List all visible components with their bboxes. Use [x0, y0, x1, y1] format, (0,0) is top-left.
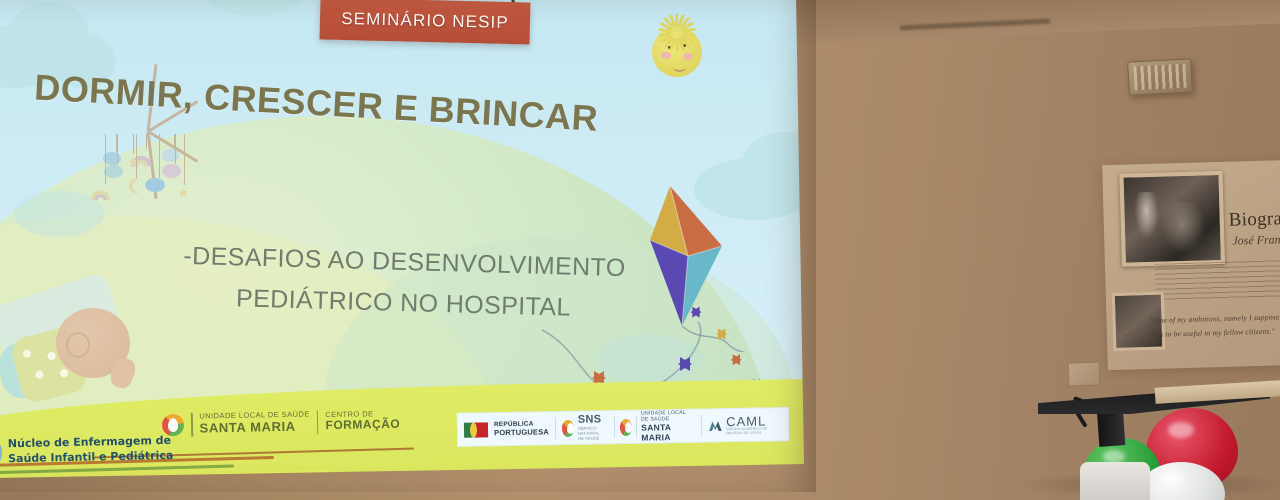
caml-mark-icon [708, 418, 723, 433]
room-scene: Biografia José Francisco David "One of m… [0, 0, 1280, 500]
biography-photo-top [1119, 171, 1225, 267]
biography-body-text [1155, 259, 1280, 302]
mobile-cloud-icon [162, 164, 181, 178]
logo-divider [636, 416, 637, 438]
uls-santa-maria-slide-logo: UNIDADE LOCAL DE SAÚDE SANTA MARIA CENTR… [162, 409, 401, 438]
mobile-star-icon [128, 154, 139, 172]
mobile-string [184, 134, 185, 185]
baby-ear [66, 332, 90, 358]
mobile-string [159, 134, 160, 178]
uls-flame-icon [620, 418, 632, 435]
caml-logo: CAML CENTRO ACADÉMICO DE MEDICINA DE LIS… [701, 408, 788, 442]
mobile-rainbow-icon [89, 184, 112, 206]
uls-santa-maria-strip-logo: UNIDADE LOCAL DE SAÚDE SANTA MARIA [614, 410, 701, 444]
nucleo-enfermagem-logo: Núcleo de Enfermagem de Saúde Infantil e… [0, 430, 174, 472]
sun-icon [639, 14, 715, 90]
sns-label: SNS [578, 414, 608, 426]
centro-formacao-line2: FORMAÇÃO [325, 418, 400, 433]
mobile-string [146, 134, 147, 149]
mobile-string [133, 134, 134, 154]
mobile-string [136, 134, 137, 178]
seminar-banner-label: SEMINÁRIO NESIP [341, 9, 509, 33]
sns-sub2: DE SAÚDE [578, 435, 608, 441]
portugal-flag-icon [464, 422, 490, 437]
sns-flame-icon [562, 419, 575, 436]
mobile-star-icon [178, 185, 189, 203]
slide-subtitle-line1: -DESAFIOS AO DESENVOLVIMENTO [183, 242, 626, 282]
baby-mobile-icon [82, 122, 218, 242]
uls-logo-line2: SANTA MARIA [199, 419, 310, 436]
institutional-logo-strip: REPÚBLICA PORTUGUESA SNS SERVIÇO NACIONA… [457, 407, 790, 447]
logo-divider [317, 410, 319, 434]
projection-screen: SEMINÁRIO NESIP DORMIR, CRESCER E BRINCA… [0, 0, 810, 478]
mobile-cloud-icon [145, 178, 165, 192]
caml-sub: CENTRO ACADÉMICO DE MEDICINA DE LISBOA [726, 427, 782, 436]
mobile-cloud-icon [104, 165, 123, 178]
mobile-string [117, 134, 118, 165]
sns-sub1: SERVIÇO NACIONAL [578, 425, 608, 436]
logo-divider [191, 413, 193, 437]
biography-quote: "One of my ambitions, namely I suppose, … [1150, 310, 1280, 341]
nucleo-emblem-icon [0, 433, 2, 472]
mobile-cloud-icon [162, 149, 179, 161]
mobile-string [105, 134, 106, 184]
seminar-banner: SEMINÁRIO NESIP [320, 0, 531, 45]
biography-title: Biografia [1228, 208, 1280, 232]
wall-light-fixture [1127, 58, 1193, 95]
uls-strip-line2: SANTA MARIA [641, 422, 695, 443]
mobile-moon-icon [128, 178, 144, 199]
lectern-base [1080, 462, 1150, 500]
presentation-slide: SEMINÁRIO NESIP DORMIR, CRESCER E BRINCA… [0, 0, 810, 478]
nucleo-line2: Saúde Infantil e Pediátrica [8, 449, 173, 467]
sun-smile [673, 63, 686, 72]
sun-cheek-right [683, 53, 693, 60]
uls-strip-line1: UNIDADE LOCAL DE SAÚDE [641, 409, 695, 422]
mobile-string [175, 134, 176, 164]
small-wall-plaque [1068, 361, 1101, 386]
republica-portuguesa-logo: REPÚBLICA PORTUGUESA [458, 412, 555, 446]
biography-person-name: José Francisco David [1232, 231, 1280, 249]
republica-line2: PORTUGUESA [494, 428, 549, 438]
sun-cheek-left [661, 52, 671, 59]
sns-logo: SNS SERVIÇO NACIONAL DE SAÚDE [555, 411, 613, 444]
sleeping-baby-icon [0, 284, 169, 404]
biography-wall-panel: Biografia José Francisco David "One of m… [1102, 159, 1280, 370]
